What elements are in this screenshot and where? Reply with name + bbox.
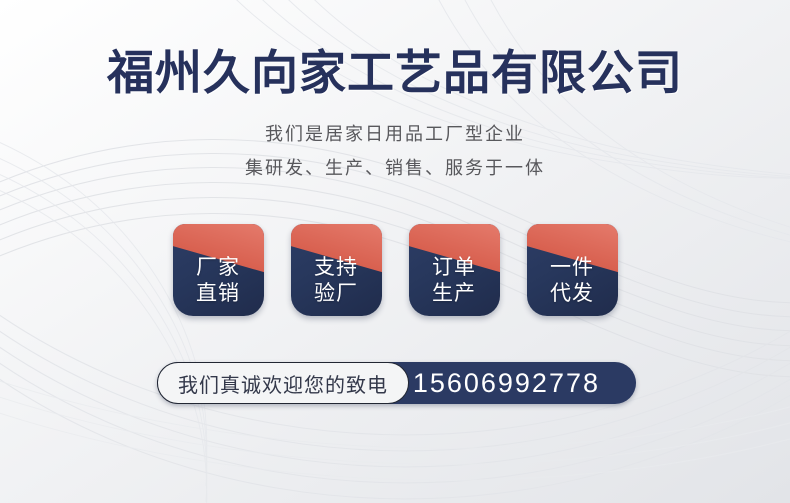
badge-label: 一件 代发 — [550, 255, 594, 307]
promo-banner: 福州久向家工艺品有限公司 我们是居家日用品工厂型企业 集研发、生产、销售、服务于… — [0, 0, 790, 503]
feature-badge-list: 厂家 直销 支持 验厂 订单 生产 一件 代发 — [0, 224, 790, 318]
badge-label-line-2: 直销 — [196, 281, 240, 307]
badge-label-line-1: 订单 — [432, 256, 476, 279]
badge-label-line-2: 代发 — [550, 281, 594, 307]
feature-badge-factory-audit[interactable]: 支持 验厂 — [291, 224, 382, 316]
feature-badge-dropshipping[interactable]: 一件 代发 — [527, 224, 618, 316]
feature-badge-order-production[interactable]: 订单 生产 — [409, 224, 500, 316]
badge-label-line-1: 一件 — [550, 256, 594, 279]
invite-text: 我们真诚欢迎您的致电 — [178, 369, 388, 398]
subtitle-line-1: 我们是居家日用品工厂型企业 — [0, 120, 790, 146]
badge-label-line-1: 支持 — [314, 256, 358, 279]
feature-badge-factory-direct[interactable]: 厂家 直销 — [173, 224, 264, 316]
company-title: 福州久向家工艺品有限公司 — [0, 34, 790, 103]
badge-label-line-1: 厂家 — [196, 256, 240, 279]
subtitle-line-2: 集研发、生产、销售、服务于一体 — [0, 154, 790, 180]
badge-label-line-2: 验厂 — [314, 281, 358, 307]
badge-label: 支持 验厂 — [314, 255, 358, 307]
invite-pill: 我们真诚欢迎您的致电 — [157, 362, 409, 404]
badge-label-line-2: 生产 — [432, 281, 476, 307]
badge-label: 厂家 直销 — [196, 255, 240, 307]
badge-label: 订单 生产 — [432, 255, 476, 307]
phone-number: 15606992778 — [413, 368, 600, 399]
contact-bar: 15606992778 我们真诚欢迎您的致电 — [157, 362, 636, 404]
